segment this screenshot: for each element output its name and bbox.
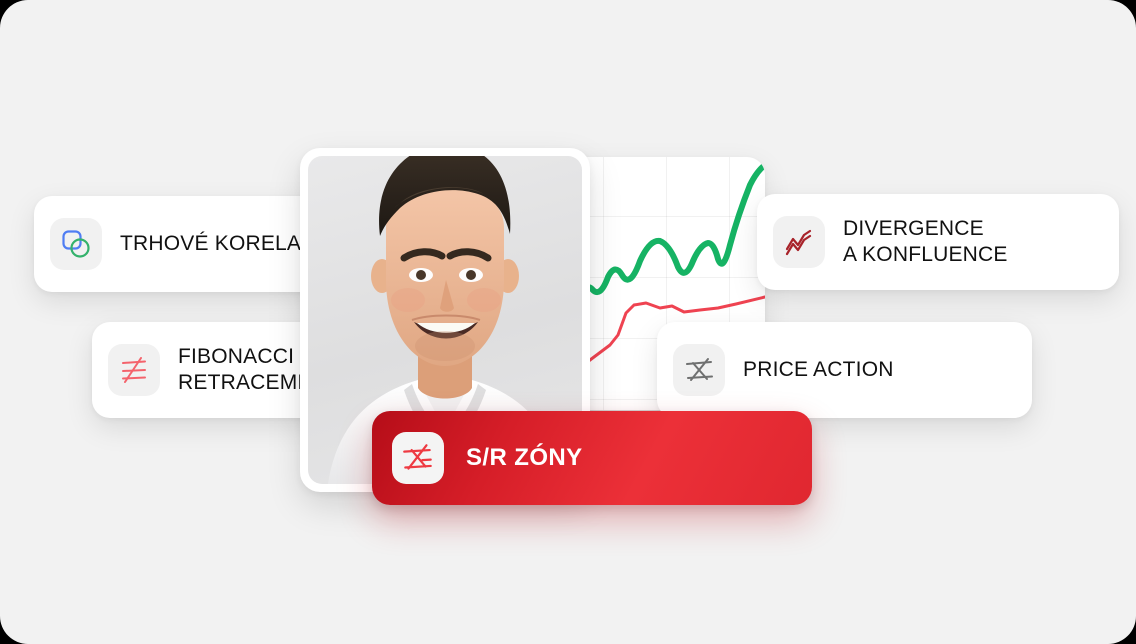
feature-card-sr-zones-selected[interactable]: S/R ZÓNY bbox=[372, 411, 812, 505]
chart-line-uptrend bbox=[576, 165, 765, 309]
price-action-trendline-icon bbox=[673, 344, 725, 396]
feature-card-label: S/R ZÓNY bbox=[466, 444, 583, 472]
zigzag-divergence-icon bbox=[773, 216, 825, 268]
feature-card-label: PRICE ACTION bbox=[743, 357, 894, 383]
square-circle-overlap-icon bbox=[50, 218, 102, 270]
promo-feature-graphic: TRHOVÉ KORELACE FIBONACCI RETRACEMENT bbox=[0, 0, 1136, 644]
feature-card-divergence[interactable]: DIVERGENCE A KONFLUENCE bbox=[757, 194, 1119, 290]
support-resistance-icon bbox=[392, 432, 444, 484]
feature-card-correlations[interactable]: TRHOVÉ KORELACE bbox=[34, 196, 340, 292]
feature-card-price-action[interactable]: PRICE ACTION bbox=[657, 322, 1032, 418]
fibonacci-lines-icon bbox=[108, 344, 160, 396]
feature-card-label: DIVERGENCE A KONFLUENCE bbox=[843, 216, 1008, 267]
